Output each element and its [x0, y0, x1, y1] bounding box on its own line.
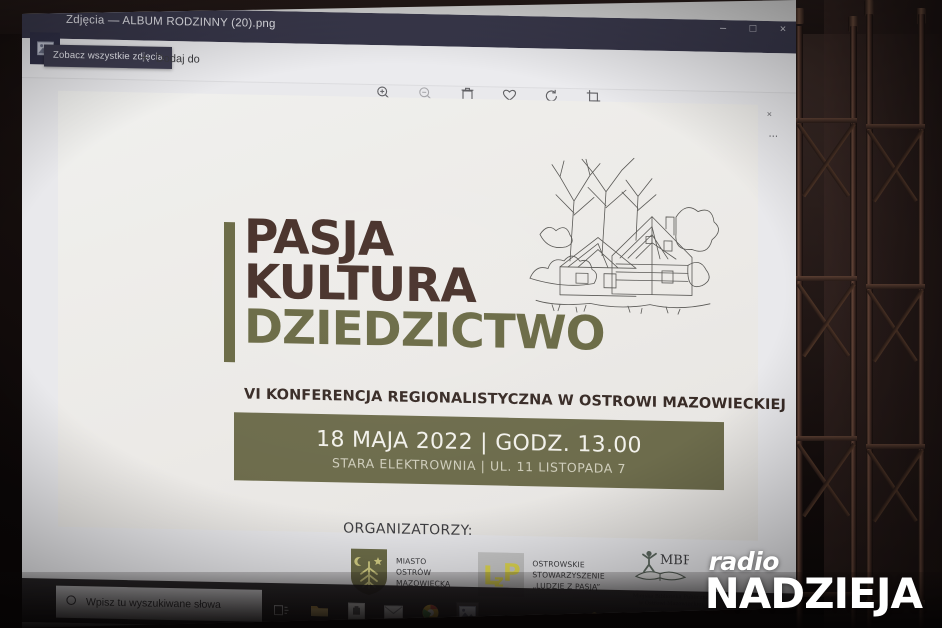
svg-text:MBP: MBP [660, 553, 689, 569]
watermark-nadzieja: NADZIEJA [705, 574, 922, 614]
headline-line-3: DZIEDZICTWO [244, 305, 605, 357]
truss-tower-right [866, 14, 928, 628]
close-button[interactable]: × [776, 23, 790, 35]
minimize-button[interactable]: – [716, 22, 730, 34]
more-options-button[interactable]: ⋯ [769, 130, 779, 141]
window-controls[interactable]: – □ × [716, 22, 790, 35]
poster-date-main: 18 MAJA 2022 | GODZ. 13.00 [316, 426, 642, 458]
add-to-label: Dodaj do [156, 52, 200, 65]
poster-headline: PASJA KULTURA DZIEDZICTWO [244, 214, 605, 357]
truss-tower-left [796, 26, 860, 628]
more-icon: ⋯ [769, 130, 779, 141]
projection-screen: Zdjęcia — ALBUM RODZINNY (20).png – □ × [0, 0, 796, 628]
inner-close-button[interactable]: × [767, 109, 772, 119]
plus-icon: + [140, 50, 149, 65]
poster-subtitle: VI KONFERENCJA REGIONALISTYCZNA W OSTROW… [244, 386, 786, 413]
poster-date-venue: STARA ELEKTROWNIA | UL. 11 LISTOPADA 7 [332, 455, 626, 476]
organizers-label: ORGANIZATORZY: [58, 515, 758, 545]
maximize-button[interactable]: □ [746, 23, 760, 35]
conference-poster: PASJA KULTURA DZIEDZICTWO VI KONFERENCJA… [58, 91, 758, 541]
screenshot-stage: Zdjęcia — ALBUM RODZINNY (20).png – □ × [0, 0, 942, 628]
poster-date-band: 18 MAJA 2022 | GODZ. 13.00 STARA ELEKTRO… [234, 412, 724, 490]
window-title: Zdjęcia — ALBUM RODZINNY (20).png [66, 14, 276, 30]
add-to-button[interactable]: + Dodaj do [140, 50, 200, 66]
headline-accent-bar [224, 222, 235, 362]
windows-desktop: Zdjęcia — ALBUM RODZINNY (20).png – □ × [22, 6, 796, 628]
radio-nadzieja-watermark: radio NADZIEJA [705, 550, 922, 614]
